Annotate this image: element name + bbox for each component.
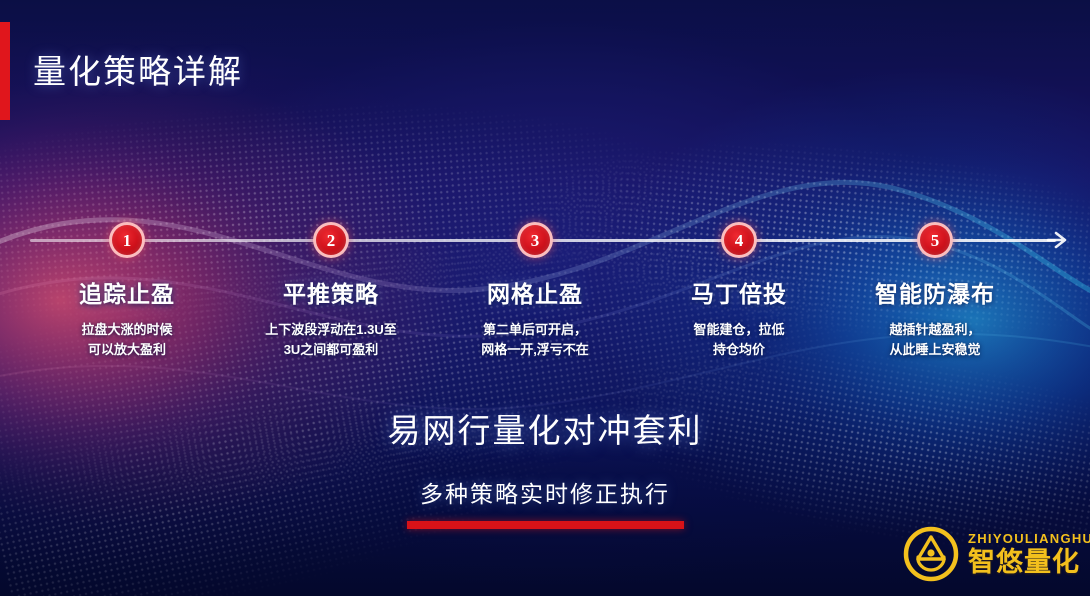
step-title: 马丁倍投 [624, 275, 854, 309]
step-desc-line: 智能建仓，拉低 [624, 320, 854, 340]
step-desc-line: 持仓均价 [624, 340, 854, 360]
hero-title: 易网行量化对冲套利 [0, 404, 1090, 452]
step-description: 智能建仓，拉低 持仓均价 [624, 320, 854, 360]
step-desc-line: 从此睡上安稳觉 [820, 340, 1050, 360]
step-badge: 3 [517, 222, 553, 258]
step-badge: 1 [109, 222, 145, 258]
timeline-step-4[interactable]: 4 马丁倍投 智能建仓，拉低 持仓均价 [624, 222, 854, 360]
step-description: 上下波段浮动在1.3U至 3U之间都可盈利 [216, 320, 446, 360]
step-title: 追踪止盈 [12, 275, 242, 309]
timeline-step-1[interactable]: 1 追踪止盈 拉盘大涨的时候 可以放大盈利 [12, 222, 242, 360]
step-desc-line: 第二单后可开启， [420, 320, 650, 340]
step-title: 智能防瀑布 [820, 275, 1050, 309]
arrow-right-icon [1046, 229, 1068, 251]
page-title: 量化策略详解 [33, 45, 243, 93]
step-description: 拉盘大涨的时候 可以放大盈利 [12, 320, 242, 360]
step-badge: 5 [917, 222, 953, 258]
logo-chinese-text: 智悠量化 [968, 549, 1090, 576]
brand-logo[interactable]: ZHIYOULIANGHUA 智悠量化 [903, 526, 1090, 582]
step-badge: 4 [721, 222, 757, 258]
logo-latin-text: ZHIYOULIANGHUA [968, 532, 1090, 545]
step-desc-line: 3U之间都可盈利 [216, 340, 446, 360]
step-title: 平推策略 [216, 275, 446, 309]
timeline-step-2[interactable]: 2 平推策略 上下波段浮动在1.3U至 3U之间都可盈利 [216, 222, 446, 360]
step-number: 5 [931, 232, 940, 249]
step-desc-line: 上下波段浮动在1.3U至 [216, 320, 446, 340]
step-number: 1 [123, 232, 132, 249]
step-badge: 2 [313, 222, 349, 258]
hero-subtitle: 多种策略实时修正执行 [0, 475, 1090, 509]
timeline-step-3[interactable]: 3 网格止盈 第二单后可开启， 网格一开,浮亏不在 [420, 222, 650, 360]
step-desc-line: 拉盘大涨的时候 [12, 320, 242, 340]
step-description: 第二单后可开启， 网格一开,浮亏不在 [420, 320, 650, 360]
step-description: 越插针越盈利， 从此睡上安稳觉 [820, 320, 1050, 360]
step-number: 4 [735, 232, 744, 249]
step-desc-line: 网格一开,浮亏不在 [420, 340, 650, 360]
step-desc-line: 可以放大盈利 [12, 340, 242, 360]
step-number: 3 [531, 232, 540, 249]
hero-block: 易网行量化对冲套利 多种策略实时修正执行 [0, 404, 1090, 529]
zhiyou-emblem-icon [903, 526, 959, 582]
slide-canvas: 量化策略详解 1 追踪止盈 拉盘大涨的时候 可以放大盈利 2 平推策略 上下波段… [0, 0, 1090, 596]
step-number: 2 [327, 232, 336, 249]
title-accent-bar [0, 22, 10, 120]
step-desc-line: 越插针越盈利， [820, 320, 1050, 340]
timeline-step-5[interactable]: 5 智能防瀑布 越插针越盈利， 从此睡上安稳觉 [820, 222, 1050, 360]
hero-underline-bar [407, 521, 684, 529]
step-title: 网格止盈 [420, 275, 650, 309]
timeline-line [30, 239, 1056, 242]
